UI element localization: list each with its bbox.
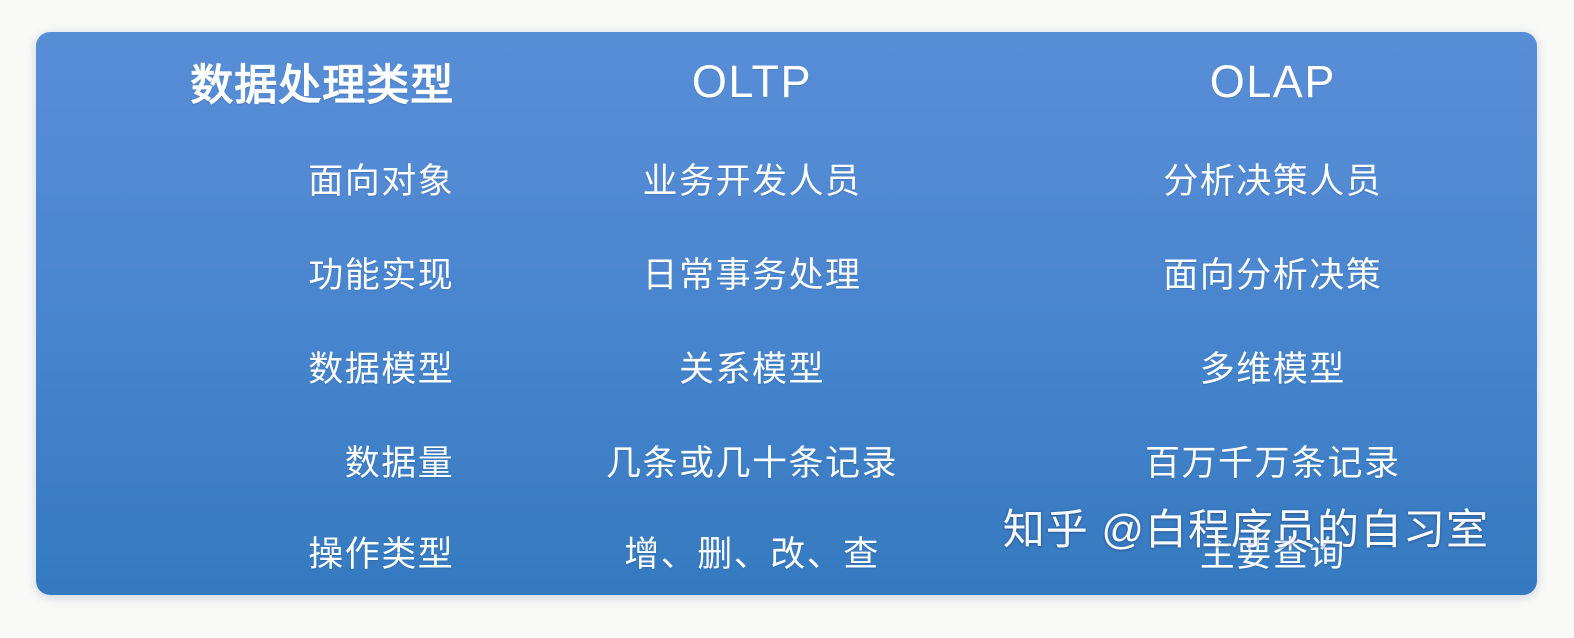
table-row: 操作类型 增、删、改、查 主要查询 (36, 507, 1537, 595)
row-olap-value: 百万千万条记录 (1009, 413, 1537, 507)
table-row: 数据模型 关系模型 多维模型 (36, 320, 1537, 414)
row-oltp-value: 几条或几十条记录 (495, 413, 1008, 507)
table-body: 面向对象 业务开发人员 分析决策人员 功能实现 日常事务处理 面向分析决策 数据… (36, 132, 1537, 595)
row-attribute: 面向对象 (36, 132, 495, 226)
row-attribute: 数据量 (36, 413, 495, 507)
header-attribute: 数据处理类型 (36, 32, 495, 132)
table-header-row: 数据处理类型 OLTP OLAP (36, 32, 1537, 132)
row-olap-value: 分析决策人员 (1009, 132, 1537, 226)
comparison-table: 数据处理类型 OLTP OLAP 面向对象 业务开发人员 分析决策人员 功能实现… (36, 32, 1537, 595)
table-row: 数据量 几条或几十条记录 百万千万条记录 (36, 413, 1537, 507)
header-olap: OLAP (1009, 32, 1537, 132)
row-attribute: 数据模型 (36, 320, 495, 414)
row-oltp-value: 日常事务处理 (495, 226, 1008, 320)
table-row: 面向对象 业务开发人员 分析决策人员 (36, 132, 1537, 226)
row-olap-value: 主要查询 (1009, 507, 1537, 595)
row-oltp-value: 业务开发人员 (495, 132, 1008, 226)
table-row: 功能实现 日常事务处理 面向分析决策 (36, 226, 1537, 320)
row-oltp-value: 增、删、改、查 (495, 507, 1008, 595)
row-olap-value: 多维模型 (1009, 320, 1537, 414)
row-attribute: 操作类型 (36, 507, 495, 595)
row-attribute: 功能实现 (36, 226, 495, 320)
oltp-olap-comparison-panel: 数据处理类型 OLTP OLAP 面向对象 业务开发人员 分析决策人员 功能实现… (36, 32, 1537, 595)
row-oltp-value: 关系模型 (495, 320, 1008, 414)
header-oltp: OLTP (495, 32, 1008, 132)
row-olap-value: 面向分析决策 (1009, 226, 1537, 320)
